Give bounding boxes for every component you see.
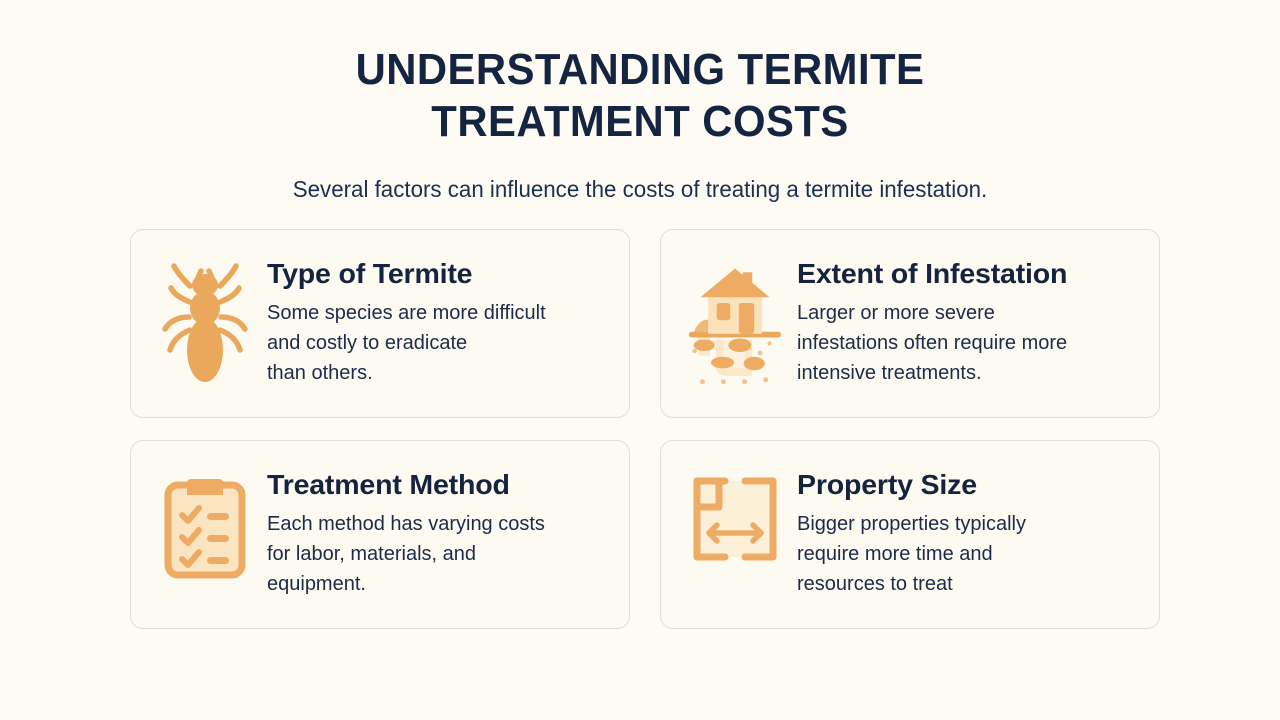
- card-body: Larger or more severe infestations often…: [797, 298, 1067, 388]
- header: UNDERSTANDING TERMITE TREATMENT COSTS Se…: [0, 44, 1280, 204]
- card-body: Some species are more difficult and cost…: [267, 298, 546, 388]
- page-subtitle: Several factors can influence the costs …: [19, 174, 1261, 204]
- termite-icon: [157, 256, 253, 386]
- card-text: Treatment Method Each method has varying…: [253, 467, 545, 599]
- card-title: Type of Termite: [267, 258, 551, 290]
- factor-card-treatment-method: Treatment Method Each method has varying…: [130, 440, 630, 629]
- card-body: Bigger properties typically require more…: [797, 509, 1026, 599]
- floor-plan-icon: [687, 467, 783, 597]
- clipboard-checklist-icon: [157, 467, 253, 597]
- card-body-line: infestations often require more: [797, 328, 1067, 358]
- page-title: UNDERSTANDING TERMITE TREATMENT COSTS: [32, 44, 1248, 148]
- infographic-page: UNDERSTANDING TERMITE TREATMENT COSTS Se…: [0, 0, 1280, 720]
- card-text: Property Size Bigger properties typicall…: [783, 467, 1026, 599]
- card-title: Property Size: [797, 469, 1031, 501]
- factor-card-type-of-termite: Type of Termite Some species are more di…: [130, 229, 630, 418]
- card-text: Type of Termite Some species are more di…: [253, 256, 546, 388]
- card-body-line: Each method has varying costs: [267, 509, 545, 539]
- card-body-line: equipment.: [267, 569, 545, 599]
- card-text: Extent of Infestation Larger or more sev…: [783, 256, 1067, 388]
- card-body-line: Some species are more difficult: [267, 298, 546, 328]
- card-body: Each method has varying costs for labor,…: [267, 509, 545, 599]
- card-title: Extent of Infestation: [797, 258, 1073, 290]
- factor-card-property-size: Property Size Bigger properties typicall…: [660, 440, 1160, 629]
- page-title-line-1: UNDERSTANDING TERMITE: [32, 44, 1248, 96]
- card-body-line: intensive treatments.: [797, 358, 1067, 388]
- card-body-line: Larger or more severe: [797, 298, 1067, 328]
- infested-house-icon: [687, 256, 783, 386]
- card-body-line: require more time and: [797, 539, 1026, 569]
- card-body-line: and costly to eradicate: [267, 328, 546, 358]
- card-body-line: Bigger properties typically: [797, 509, 1026, 539]
- factor-card-extent-of-infestation: Extent of Infestation Larger or more sev…: [660, 229, 1160, 418]
- card-body-line: resources to treat: [797, 569, 1026, 599]
- card-body-line: for labor, materials, and: [267, 539, 545, 569]
- page-title-line-2: TREATMENT COSTS: [32, 96, 1248, 148]
- card-title: Treatment Method: [267, 469, 550, 501]
- card-body-line: than others.: [267, 358, 546, 388]
- factor-card-grid: Type of Termite Some species are more di…: [130, 229, 1160, 629]
